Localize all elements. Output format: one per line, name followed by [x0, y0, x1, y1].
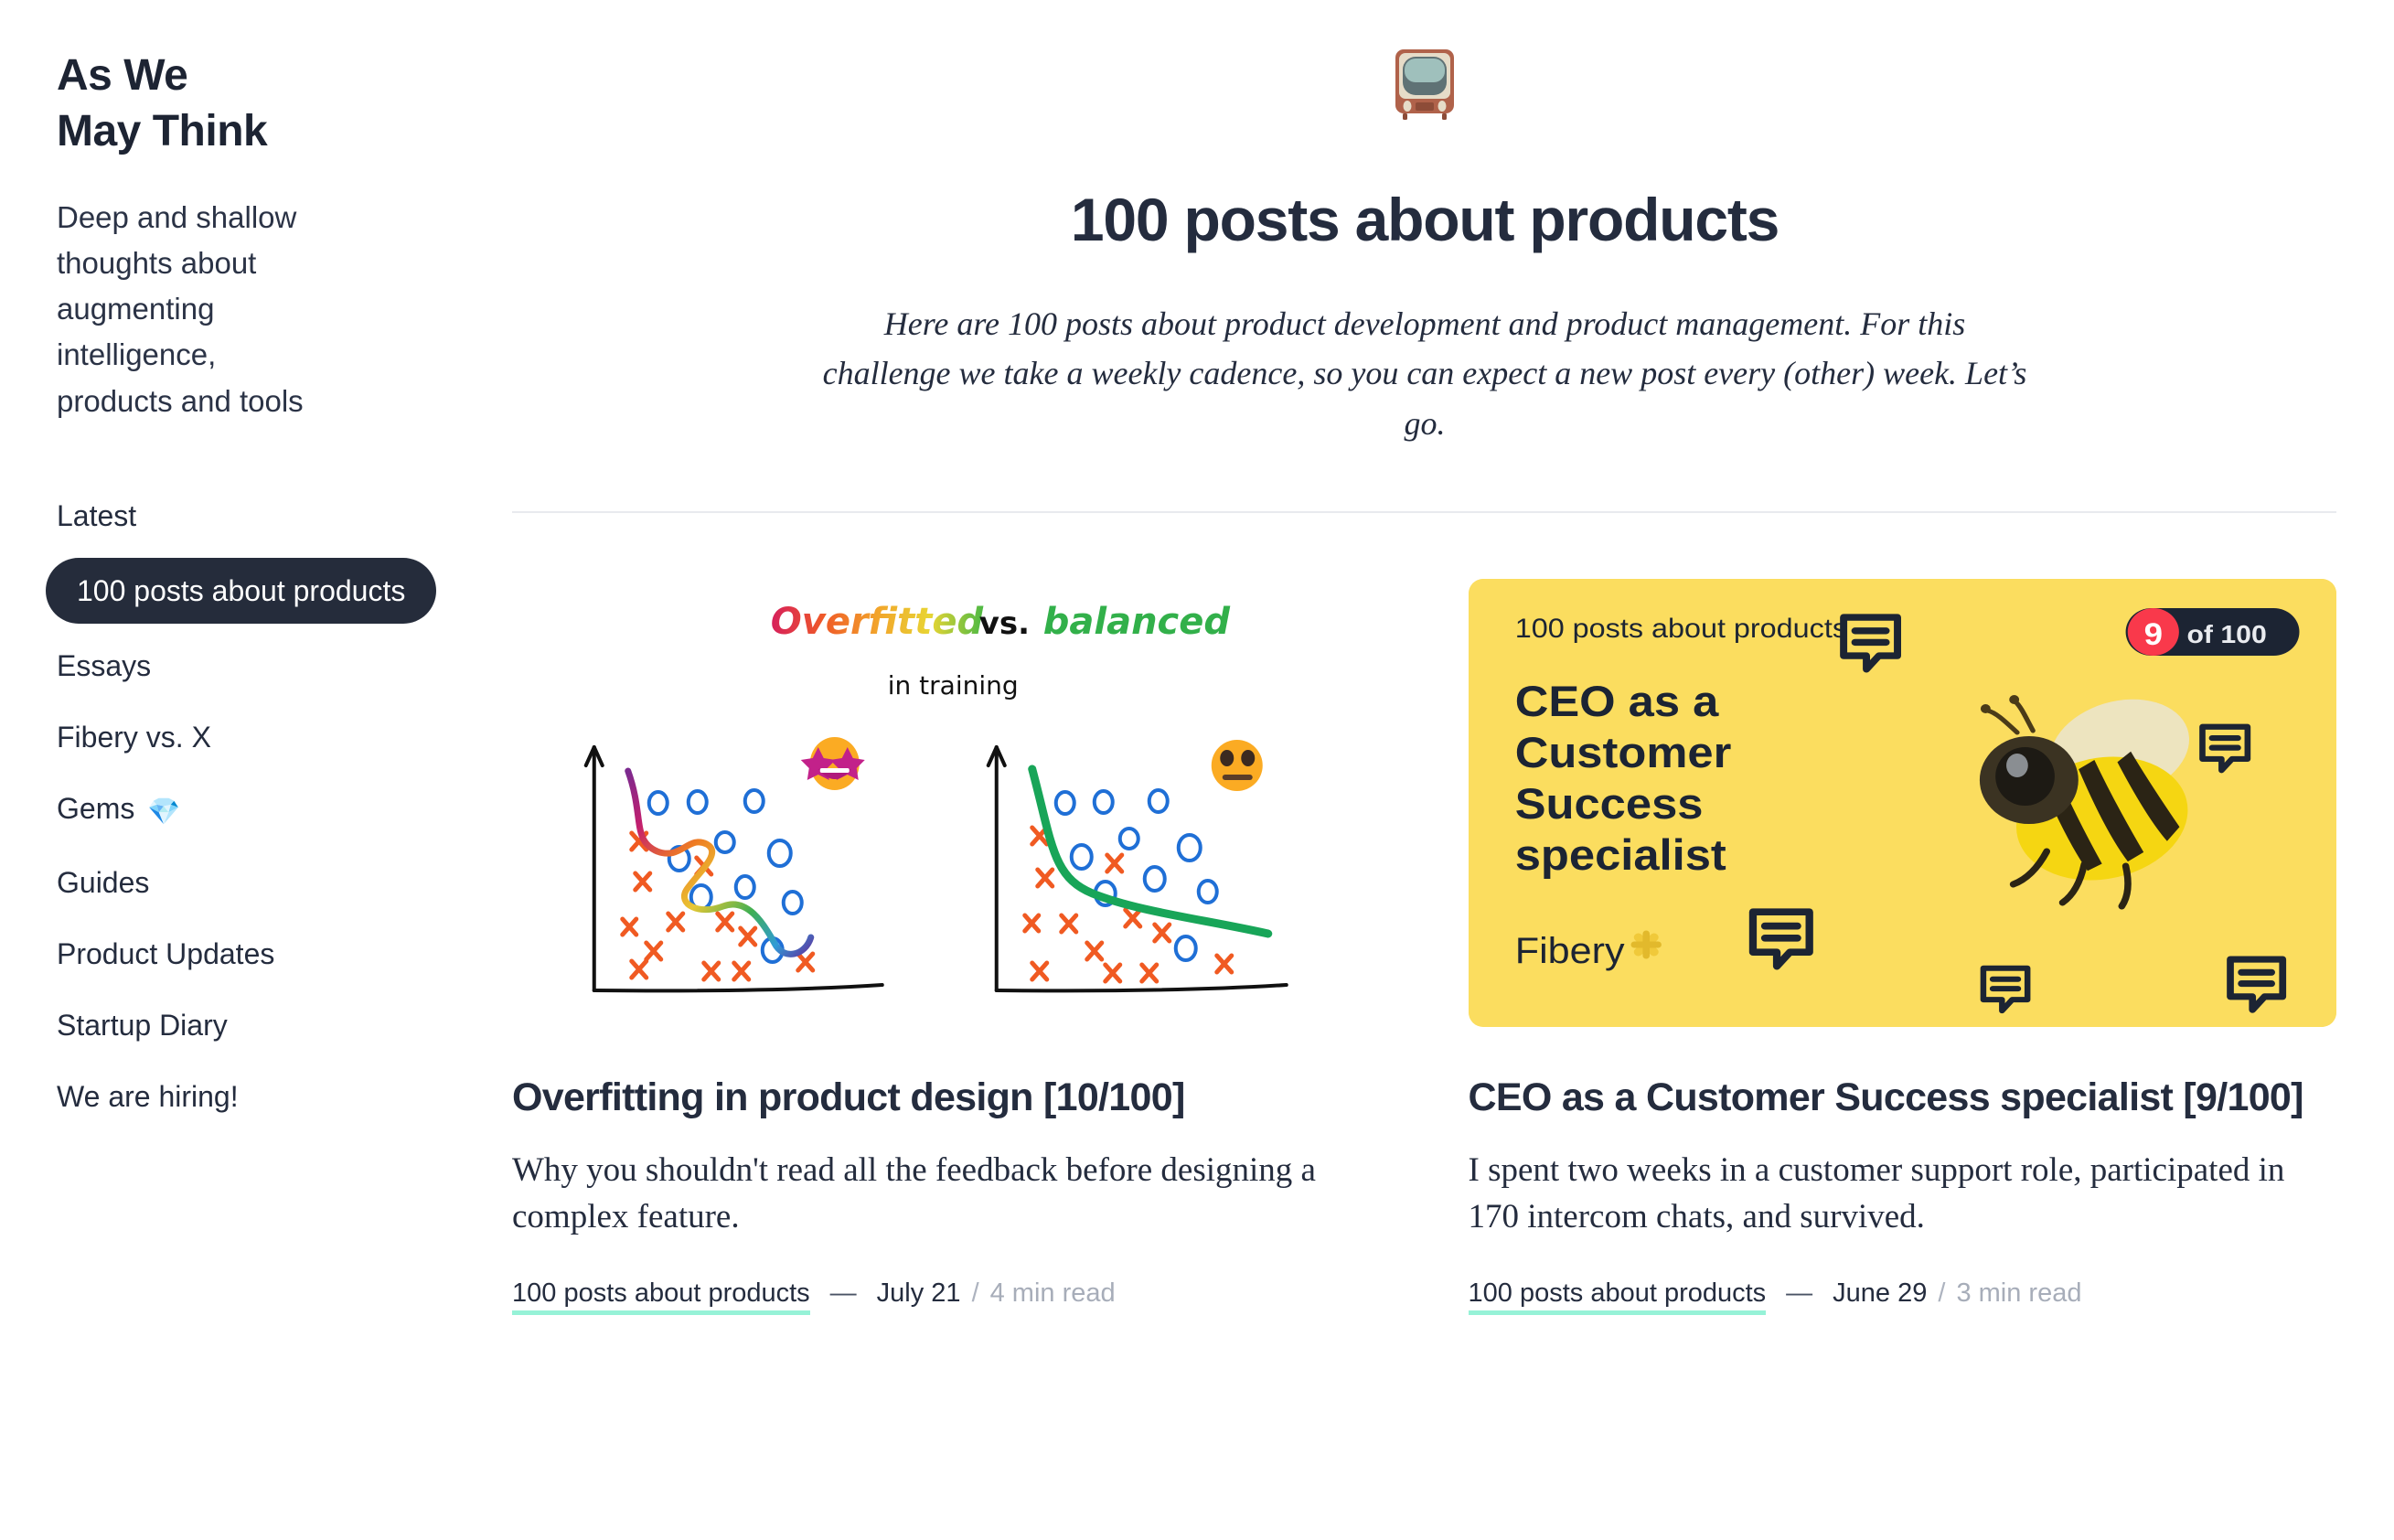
- post-read-time: 4 min read: [990, 1278, 1116, 1309]
- sidebar-item-label: Guides: [57, 866, 149, 899]
- sidebar-item-label: Fibery vs. X: [57, 721, 211, 754]
- svg-text:Overfitted: Overfitted: [771, 601, 984, 643]
- page-description: Here are 100 posts about product develop…: [817, 299, 2033, 449]
- post-thumbnail-overfitting[interactable]: Overfitted vs. balanced in training: [512, 579, 1381, 1027]
- meta-separator: /: [1938, 1278, 1945, 1309]
- svg-text:Success: Success: [1514, 780, 1703, 828]
- post-excerpt: Why you shouldn't read all the feedback …: [512, 1147, 1381, 1240]
- site-title: As We May Think: [57, 48, 512, 160]
- post-grid: Overfitted vs. balanced in training: [512, 579, 2336, 1316]
- thumb-eyebrow: 100 posts about products: [1514, 613, 1846, 644]
- progress-badge: 9 of 100: [2125, 608, 2299, 656]
- page-title: 100 posts about products: [766, 187, 2083, 253]
- svg-text:vs.: vs.: [979, 605, 1030, 642]
- meta-dash: —: [830, 1278, 857, 1309]
- sidebar-item-gems[interactable]: Gems💎: [57, 779, 180, 840]
- fibery-asterisk-icon: [1634, 934, 1658, 956]
- hero-section: 100 posts about products Here are 100 po…: [766, 0, 2083, 449]
- post-meta: 100 posts about products — June 29 / 3 m…: [1469, 1278, 2337, 1315]
- sidebar-item-label: Startup Diary: [57, 1009, 228, 1042]
- sidebar-item-startup-diary[interactable]: Startup Diary: [57, 996, 228, 1054]
- sidebar-item-we-are-hiring[interactable]: We are hiring!: [57, 1067, 239, 1126]
- sidebar-item-100-posts-about-products[interactable]: 100 posts about products: [46, 558, 436, 624]
- blog-index-page: As We May Think Deep and shallow thought…: [0, 0, 2394, 1540]
- main-content: 100 posts about products Here are 100 po…: [512, 0, 2394, 1540]
- svg-text:specialist: specialist: [1514, 831, 1726, 879]
- sidebar-item-label: Product Updates: [57, 937, 274, 970]
- post-category-link[interactable]: 100 posts about products: [1469, 1278, 1767, 1315]
- neutral-face-emoji: [1212, 740, 1263, 791]
- sidebar-item-latest[interactable]: Latest: [57, 487, 136, 545]
- site-description: Deep and shallow thoughts about augmenti…: [57, 195, 340, 424]
- sidebar-item-essays[interactable]: Essays: [57, 636, 151, 695]
- sidebar-item-fibery-vs-x[interactable]: Fibery vs. X: [57, 708, 211, 766]
- post-excerpt: I spent two weeks in a customer support …: [1469, 1147, 2337, 1240]
- post-title[interactable]: CEO as a Customer Success specialist [9/…: [1469, 1075, 2337, 1122]
- svg-text:in training: in training: [888, 670, 1019, 700]
- svg-text:Customer: Customer: [1514, 729, 1731, 776]
- svg-text:CEO as a: CEO as a: [1514, 678, 1718, 725]
- section-divider: [512, 511, 2336, 513]
- post-meta: 100 posts about products — July 21 / 4 m…: [512, 1278, 1381, 1315]
- post-card: 100 posts about products CEO as a Custom…: [1469, 579, 2337, 1316]
- sidebar-item-guides[interactable]: Guides: [57, 853, 149, 912]
- sidebar-item-label: Essays: [57, 649, 151, 682]
- sidebar-item-label: Gems: [57, 792, 134, 825]
- post-read-time: 3 min read: [1956, 1278, 2081, 1309]
- post-thumbnail-ceo-customer-success[interactable]: 100 posts about products CEO as a Custom…: [1469, 579, 2337, 1027]
- fibery-wordmark: Fibery: [1514, 929, 1624, 970]
- sidebar-item-label: Latest: [57, 499, 136, 532]
- post-date: June 29: [1833, 1278, 1927, 1309]
- sidebar-item-label: 100 posts about products: [77, 574, 405, 607]
- sidebar: As We May Think Deep and shallow thought…: [0, 0, 512, 1540]
- sidebar-nav: Latest 100 posts about products Essays F…: [57, 487, 512, 1126]
- star-struck-emoji: [801, 737, 865, 790]
- post-title[interactable]: Overfitting in product design [10/100]: [512, 1075, 1381, 1122]
- television-emoji: [766, 40, 2083, 139]
- sidebar-item-label: We are hiring!: [57, 1080, 239, 1113]
- post-card: Overfitted vs. balanced in training: [512, 579, 1381, 1316]
- post-date: July 21: [877, 1278, 961, 1309]
- svg-text:of 100: of 100: [2186, 621, 2266, 649]
- svg-text:balanced: balanced: [1043, 601, 1231, 643]
- meta-separator: /: [972, 1278, 979, 1309]
- sidebar-item-product-updates[interactable]: Product Updates: [57, 925, 274, 983]
- meta-dash: —: [1786, 1278, 1812, 1309]
- gem-icon: 💎: [147, 797, 180, 827]
- svg-text:9: 9: [2143, 617, 2162, 651]
- post-category-link[interactable]: 100 posts about products: [512, 1278, 810, 1315]
